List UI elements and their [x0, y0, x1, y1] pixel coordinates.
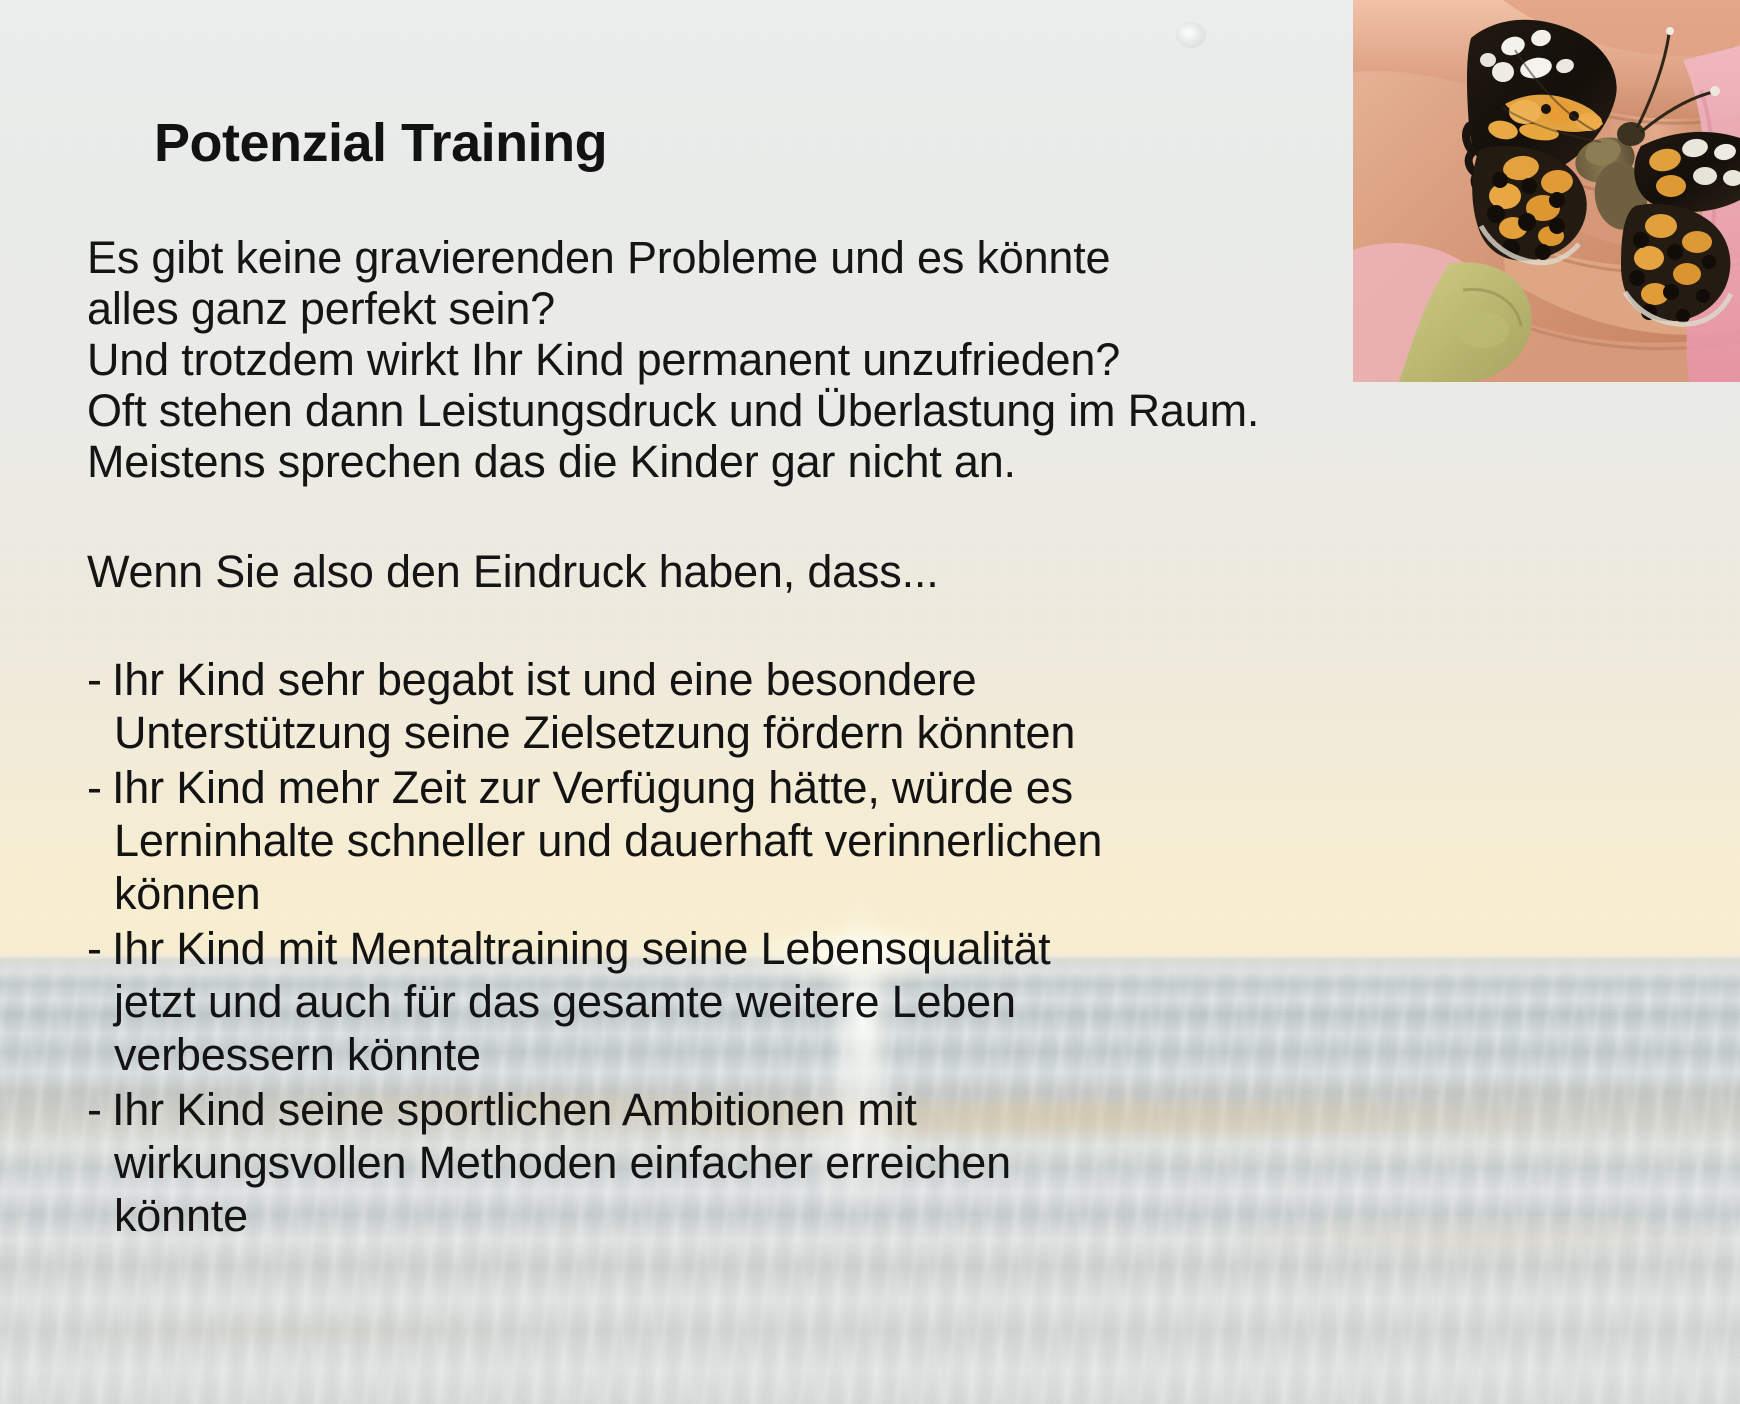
bullet-text: Ihr Kind mit Mentaltraining seine Lebens…	[112, 923, 1050, 974]
bullet-continuation-line: wirkungsvollen Methoden einfacher erreic…	[87, 1136, 1387, 1189]
butterfly-photo	[1353, 0, 1740, 382]
intro-paragraph: Es gibt keine gravierenden Probleme und …	[87, 232, 1347, 487]
bullet-first-line: -Ihr Kind seine sportlichen Ambitionen m…	[87, 1083, 1387, 1136]
list-item: -Ihr Kind sehr begabt ist und eine beson…	[87, 653, 1387, 759]
list-item: -Ihr Kind seine sportlichen Ambitionen m…	[87, 1083, 1387, 1242]
bullet-text: Ihr Kind seine sportlichen Ambitionen mi…	[112, 1084, 917, 1135]
bullet-text: Ihr Kind sehr begabt ist und eine besond…	[112, 654, 977, 705]
bullet-dash-marker: -	[87, 1083, 112, 1136]
scan-blemish-artifact	[1176, 22, 1206, 48]
intro-line: Oft stehen dann Leistungsdruck und Überl…	[87, 385, 1259, 436]
bullet-first-line: -Ihr Kind mehr Zeit zur Verfügung hätte,…	[87, 761, 1387, 814]
bullet-continuation-line: könnte	[87, 1189, 1387, 1242]
intro-line: alles ganz perfekt sein?	[87, 283, 555, 334]
bullet-dash-marker: -	[87, 922, 112, 975]
bullet-dash-marker: -	[87, 761, 112, 814]
lead-in-line: Wenn Sie also den Eindruck haben, dass..…	[87, 546, 939, 597]
bullet-continuation-line: verbessern könnte	[87, 1028, 1387, 1081]
list-item: -Ihr Kind mit Mentaltraining seine Leben…	[87, 922, 1387, 1081]
bullet-text: Ihr Kind mehr Zeit zur Verfügung hätte, …	[112, 762, 1073, 813]
bullet-first-line: -Ihr Kind sehr begabt ist und eine beson…	[87, 653, 1387, 706]
intro-line: Meistens sprechen das die Kinder gar nic…	[87, 436, 1016, 487]
bullet-dash-marker: -	[87, 653, 112, 706]
intro-line: Es gibt keine gravierenden Probleme und …	[87, 232, 1110, 283]
bullet-list: -Ihr Kind sehr begabt ist und eine beson…	[87, 653, 1387, 1244]
bullet-first-line: -Ihr Kind mit Mentaltraining seine Leben…	[87, 922, 1387, 975]
list-item: -Ihr Kind mehr Zeit zur Verfügung hätte,…	[87, 761, 1387, 920]
bullet-continuation-line: können	[87, 867, 1387, 920]
intro-line: Und trotzdem wirkt Ihr Kind permanent un…	[87, 334, 1120, 385]
bullet-continuation-line: jetzt und auch für das gesamte weitere L…	[87, 975, 1387, 1028]
page-title: Potenzial Training	[154, 112, 607, 174]
bullet-continuation-line: Lerninhalte schneller und dauerhaft veri…	[87, 814, 1387, 867]
bullet-continuation-line: Unterstützung seine Zielsetzung fördern …	[87, 706, 1387, 759]
slide-canvas: Potenzial Training Es gibt keine gravier…	[0, 0, 1740, 1404]
